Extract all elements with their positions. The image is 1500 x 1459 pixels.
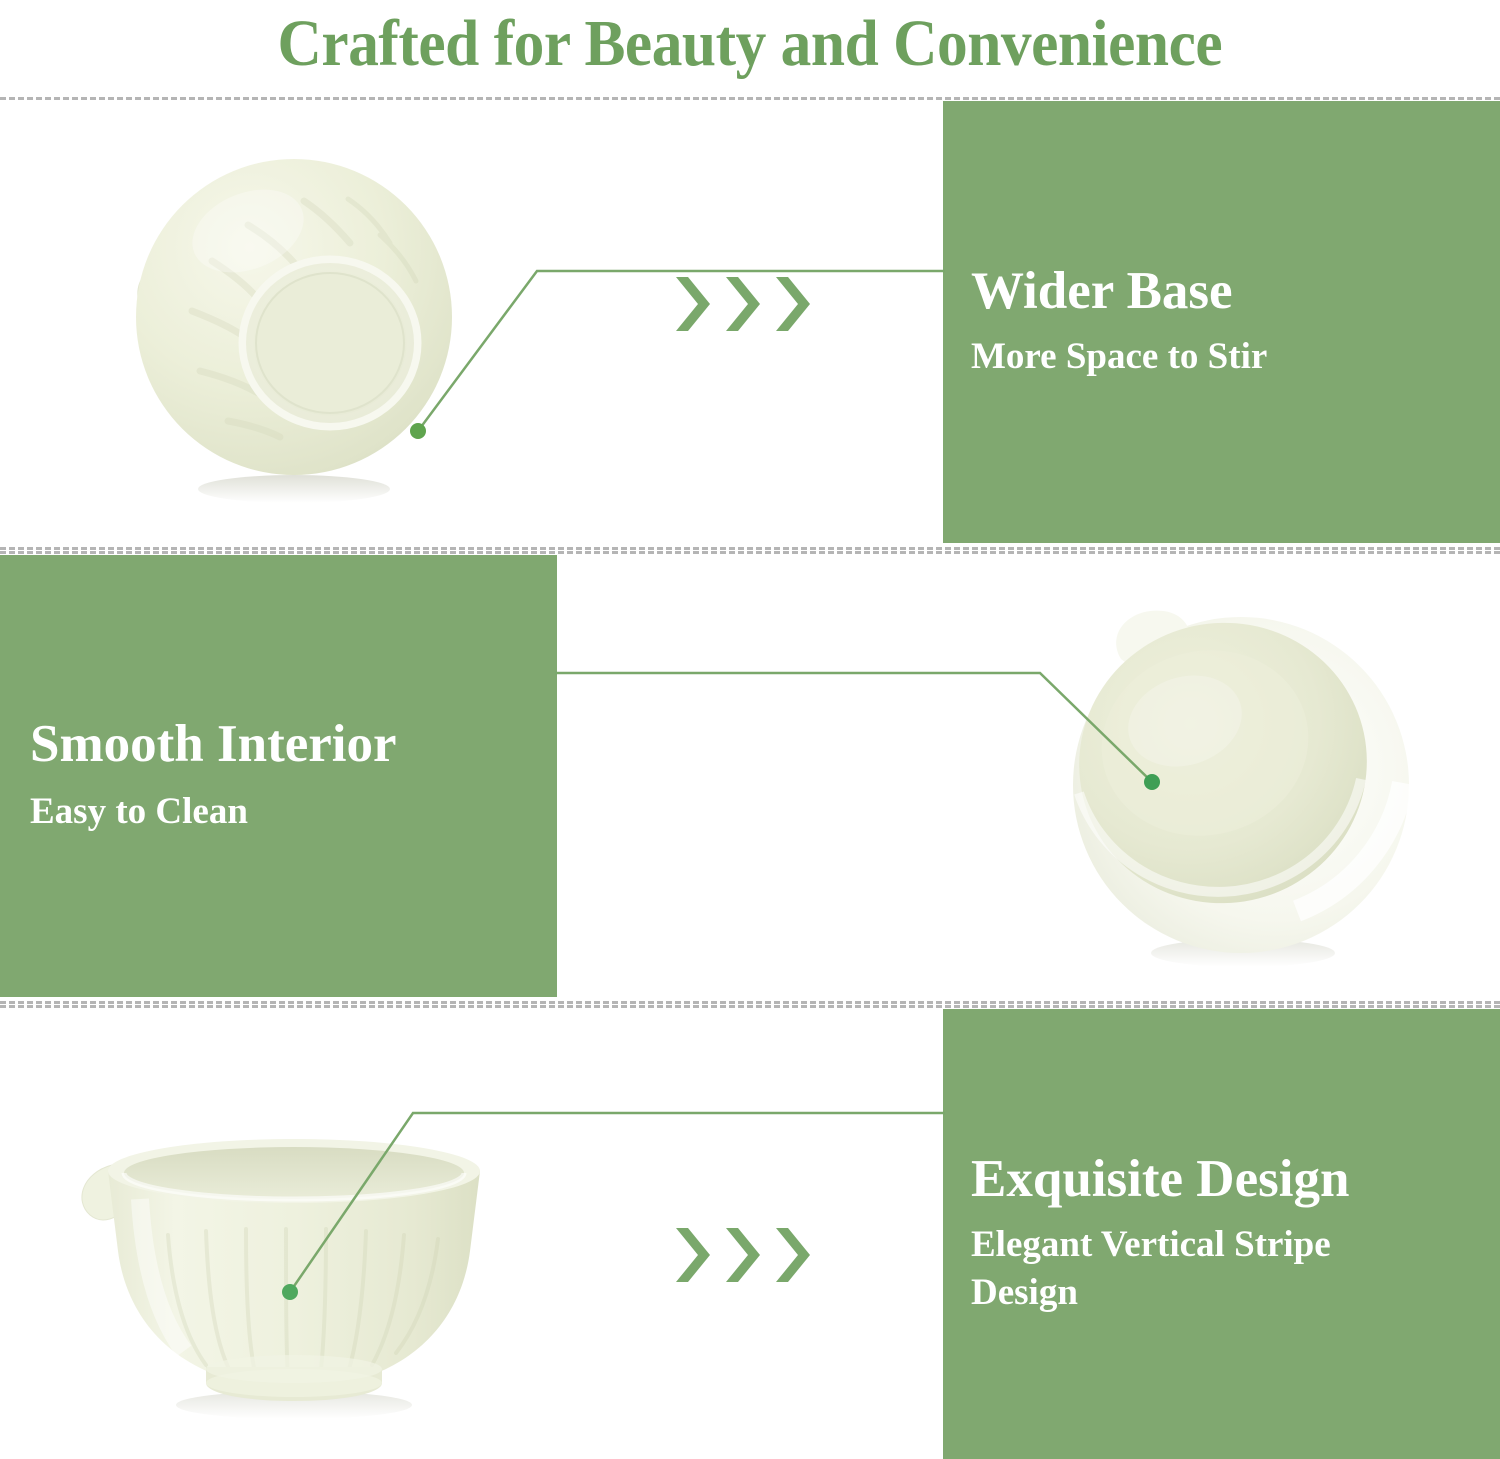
chevron-right-icon [770,1224,816,1286]
feature-text-block: Wider Base More Space to Stir [943,101,1500,543]
chevron-right-icon [720,273,766,335]
product-image-smooth-interior [1035,593,1435,978]
chevron-right-icon [670,1224,716,1286]
feature-panel-smooth-interior: Smooth Interior Easy to Clean [0,555,1500,997]
bowl-side-view-illustration [56,1139,506,1429]
divider-middle-upper-a [0,547,1500,550]
product-image-wider-base [108,139,468,509]
chevron-right-icon [720,1224,766,1286]
page-title-text: Crafted for Beauty and Convenience [278,11,1223,77]
feature-subtitle: Elegant Vertical Stripe Design [971,1221,1341,1317]
feature-panel-wider-base: Wider Base More Space to Stir [0,101,1500,543]
chevron-group-right [670,273,816,335]
chevron-right-icon [670,273,716,335]
feature-title: Wider Base [971,263,1470,319]
feature-title: Exquisite Design [971,1151,1470,1207]
divider-top [0,97,1500,100]
chevron-right-icon [770,273,816,335]
divider-middle-lower-b [0,1005,1500,1008]
feature-title: Smooth Interior [30,716,533,772]
feature-subtitle: More Space to Stir [971,333,1341,381]
page-title: Crafted for Beauty and Convenience [0,0,1500,88]
product-feature-infographic: Crafted for Beauty and Convenience Wider… [0,0,1500,1459]
bowl-interior-illustration [1035,593,1435,978]
chevron-group-right [670,1224,816,1286]
feature-subtitle: Easy to Clean [30,788,530,836]
feature-text-block: Smooth Interior Easy to Clean [0,555,557,997]
divider-middle-upper-b [0,551,1500,554]
feature-panel-exquisite-design: Exquisite Design Elegant Vertical Stripe… [0,1009,1500,1459]
feature-text-block: Exquisite Design Elegant Vertical Stripe… [943,1009,1500,1459]
bowl-underside-illustration [108,139,468,509]
divider-middle-lower-a [0,1001,1500,1004]
product-image-exquisite-design [56,1139,506,1429]
